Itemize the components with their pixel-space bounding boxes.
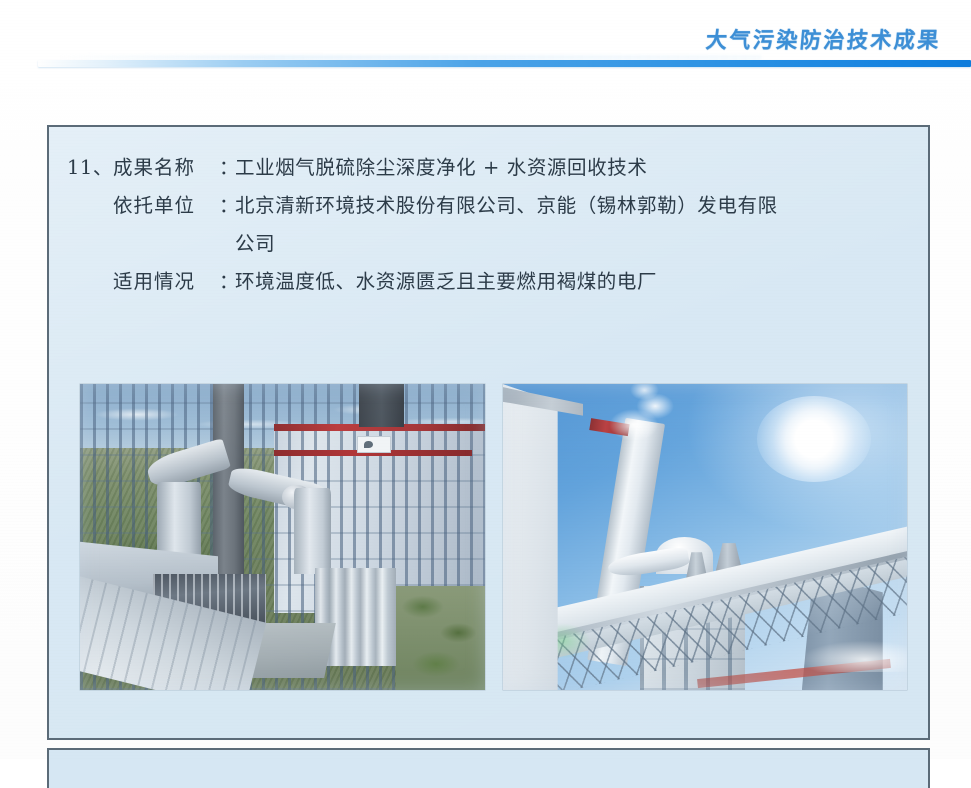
entry-label-unit: 依托单位 (113, 187, 219, 225)
entry-colon-name: ： (219, 149, 235, 187)
entry-label-name: 成果名称 (113, 149, 219, 187)
page-header-title: 大气污染防治技术成果 (705, 23, 943, 54)
entry-colon-unit: ： (219, 187, 235, 225)
entry-row-application: 适用情况 ： 环境温度低、水资源匮乏且主要燃用褐煤的电厂 (67, 263, 914, 301)
page-header: 大气污染防治技术成果 (0, 0, 971, 80)
entry-label-application: 适用情况 (113, 263, 219, 301)
entry-card: 11、 成果名称 ： 工业烟气脱硫除尘深度净化 + 水资源回收技术 依托单位 ：… (47, 125, 930, 740)
sun-icon (757, 396, 870, 482)
entry-row-name: 11、 成果名称 ： 工业烟气脱硫除尘深度净化 + 水资源回收技术 (67, 149, 914, 187)
entry-value-unit: 北京清新环境技术股份有限公司、京能（锡林郭勒）发电有限 (235, 187, 914, 225)
low-cloud (802, 641, 907, 672)
plant-absorber-tower-right (294, 488, 330, 574)
stack-low-angle-photo (503, 384, 908, 690)
power-plant-aerial-photo (80, 384, 485, 690)
document-page: 大气污染防治技术成果 11、 成果名称 ： 工业烟气脱硫除尘深度净化 + 水资源… (0, 0, 971, 759)
plant-rooftop-block (359, 384, 403, 427)
next-entry-card-partial (47, 748, 930, 788)
plant-green-belt (396, 586, 485, 690)
photo-plant-structures (80, 384, 485, 690)
entry-row-unit: 依托单位 ： 北京清新环境技术股份有限公司、京能（锡林郭勒）发电有限 (67, 187, 914, 225)
entry-number: 11、 (67, 149, 113, 187)
entry-text-block: 11、 成果名称 ： 工业烟气脱硫除尘深度净化 + 水资源回收技术 依托单位 ：… (67, 149, 914, 301)
header-rule (38, 60, 971, 67)
entry-value-application: 环境温度低、水资源匮乏且主要燃用褐煤的电厂 (235, 263, 914, 301)
entry-value-name: 工业烟气脱硫除尘深度净化 + 水资源回收技术 (235, 149, 914, 187)
plant-logo-sign (357, 436, 391, 453)
photo-row (80, 384, 907, 690)
chimney-steam-plume (600, 384, 689, 445)
entry-value-unit-continuation: 公司 (67, 225, 914, 263)
entry-colon-application: ： (219, 263, 235, 301)
